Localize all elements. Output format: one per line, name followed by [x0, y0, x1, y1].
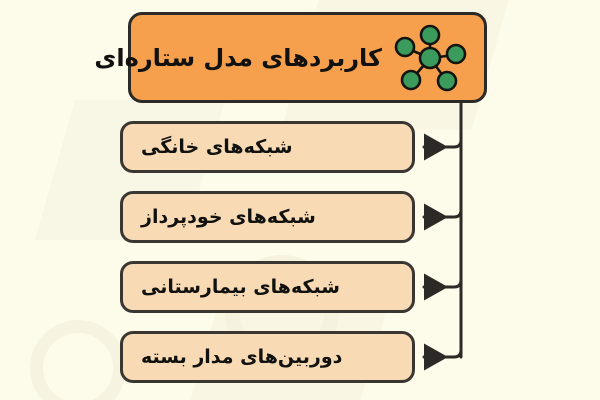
header-node[interactable]: کاربردهای مدل ستاره‌ای — [128, 12, 487, 103]
diagram-canvas: کاربردهای مدل ستاره‌ای شبکه‌های خانگی شب… — [0, 0, 600, 400]
branch-node-atm-networks[interactable]: شبکه‌های خودپرداز — [120, 191, 415, 243]
branch-label: شبکه‌های بیمارستانی — [141, 275, 340, 300]
connector-branch-1 — [424, 134, 461, 147]
branch-node-home-networks[interactable]: شبکه‌های خانگی — [120, 121, 415, 173]
page-title: کاربردهای مدل ستاره‌ای — [94, 43, 382, 73]
connector-branch-3 — [424, 274, 461, 287]
branch-label: شبکه‌های خودپرداز — [141, 205, 316, 230]
branch-label: شبکه‌های خانگی — [141, 135, 293, 160]
connector-branch-4 — [424, 344, 461, 357]
branch-node-hospital-networks[interactable]: شبکه‌های بیمارستانی — [120, 261, 415, 313]
connector-branch-2 — [424, 204, 461, 217]
branch-node-cctv-cameras[interactable]: دوربین‌های مدار بسته — [120, 331, 415, 383]
branch-label: دوربین‌های مدار بسته — [141, 345, 342, 370]
star-topology-icon — [392, 23, 468, 93]
